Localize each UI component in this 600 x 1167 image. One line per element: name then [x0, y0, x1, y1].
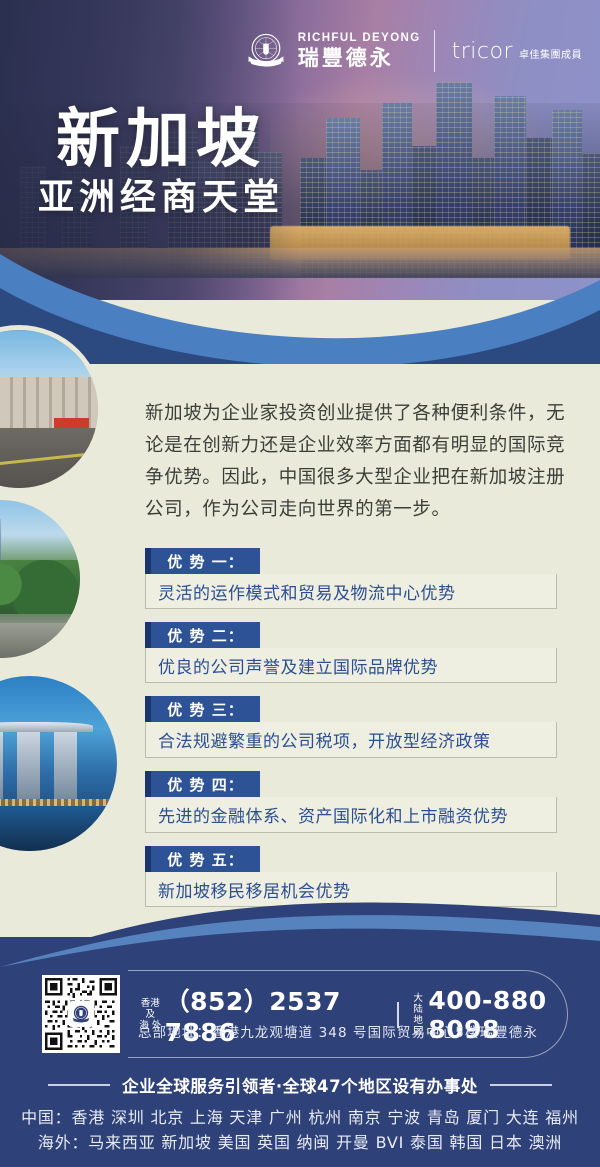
office-locations: 中国：香港 深圳 北京 上海 天津 广州 杭州 南京 宁波 青岛 厦门 大连 福… [0, 1105, 600, 1155]
marina-bay-sands-photo [0, 676, 117, 851]
cities-overseas: 海外：马来西亚 新加坡 美国 英国 纳闽 开曼 BVI 泰国 韩国 日本 澳洲 [0, 1130, 600, 1155]
poster-subtitle: 亚洲经商天堂 [38, 168, 284, 220]
advantage-label: 优 势 一： [145, 548, 260, 574]
advantage-label: 优 势 三： [145, 696, 260, 722]
tagline-rule-right [490, 1084, 552, 1086]
logo-divider [434, 30, 435, 72]
riverside-quay-photo [0, 500, 80, 658]
footer-panel: 香港及 海 外 （852）2537 7886 大陆 地区 400-880 809… [0, 937, 600, 1167]
tagline-row: 企业全球服务引领者·全球47个地区设有办事处 [0, 1073, 600, 1097]
advantage-label-text: 优 势 四： [151, 771, 260, 797]
advantage-text: 灵活的运作模式和贸易及物流中心优势 [145, 574, 557, 609]
advantage-label: 优 势 四： [145, 771, 260, 797]
qr-center-logo [68, 1001, 94, 1027]
partner-logo: tricor 卓佳集團成員 [452, 39, 582, 64]
advantage-item: 优 势 三： 合法规避繁重的公司税项，开放型经济政策 [145, 696, 557, 758]
footer-wave [0, 897, 600, 967]
cn-region-label-line1: 大陆 [410, 993, 426, 1015]
advantage-text: 先进的金融体系、资产国际化和上市融资优势 [145, 797, 557, 833]
tagline-rule-left [48, 1084, 110, 1086]
advantage-label-text: 优 势 一： [151, 548, 260, 574]
poster-title: 新加坡 [56, 88, 266, 180]
advantage-text: 优良的公司声誉及建立国际品牌优势 [145, 648, 557, 683]
shophouse-street-photo [0, 330, 98, 488]
advantage-label-text: 优 势 五： [151, 846, 260, 872]
qr-code-icon[interactable] [42, 975, 120, 1053]
advantage-item: 优 势 二： 优良的公司声誉及建立国际品牌优势 [145, 622, 557, 683]
hk-region-label-line1: 香港及 [138, 998, 163, 1020]
advantage-label-text: 优 势 三： [151, 696, 260, 722]
advantage-text: 合法规避繁重的公司税项，开放型经济政策 [145, 722, 557, 758]
advantage-label-text: 优 势 二： [151, 622, 260, 648]
advantage-item: 优 势 一： 灵活的运作模式和贸易及物流中心优势 [145, 548, 557, 609]
advantage-label: 优 势 二： [145, 622, 260, 648]
brand-wordmark: RICHFUL DEYONG 瑞豐德永 [298, 33, 421, 69]
advantage-label: 优 势 五： [145, 846, 260, 872]
advantage-list: 优 势 一： 灵活的运作模式和贸易及物流中心优势 优 势 二： 优良的公司声誉及… [145, 548, 557, 920]
brand-name-en: RICHFUL DEYONG [298, 33, 421, 45]
shield-crest-icon [70, 1003, 92, 1025]
cities-china: 中国：香港 深圳 北京 上海 天津 广州 杭州 南京 宁波 青岛 厦门 大连 福… [0, 1105, 600, 1130]
poster-root: RICHFUL DEYONG 瑞豐德永 tricor 卓佳集團成員 新加坡 亚洲… [0, 0, 600, 1167]
shield-crest-icon [243, 28, 289, 74]
tagline-text: 企业全球服务引领者·全球47个地区设有办事处 [122, 1073, 478, 1097]
brand-name-cn: 瑞豐德永 [298, 48, 421, 69]
headquarters-address: 总部地址：香港九龙观塘道 348 号国际贸易中心5楼瑞豐德永 [138, 1021, 538, 1041]
brand-logo: RICHFUL DEYONG 瑞豐德永 tricor 卓佳集團成員 [243, 28, 582, 74]
intro-paragraph: 新加坡为企业家投资创业提供了各种便利条件，无论是在创新力还是企业效率方面都有明显… [145, 398, 570, 526]
partner-name: tricor [452, 39, 513, 64]
partner-name-cn: 卓佳集團成員 [519, 46, 582, 64]
advantage-item: 优 势 四： 先进的金融体系、资产国际化和上市融资优势 [145, 771, 557, 833]
